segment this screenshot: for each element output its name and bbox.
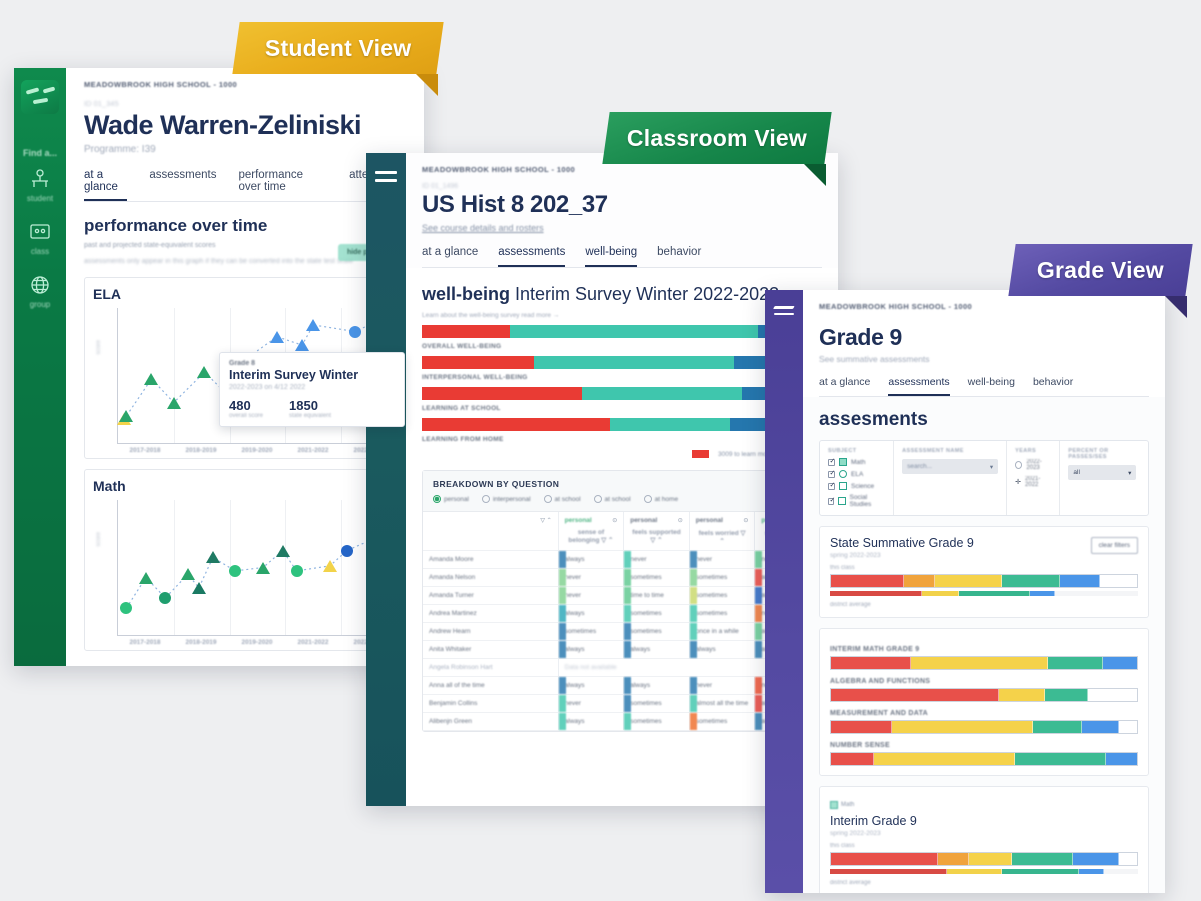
subject-label: Science (851, 483, 874, 490)
ribbon-classroom-view: Classroom View (606, 112, 828, 164)
tab-at-a-glance[interactable]: at a glance (422, 246, 478, 267)
tooltip-key-state: state equivalent (289, 413, 331, 419)
student-name-cell: Amanda Moore (423, 551, 558, 569)
x-tick: 2021-2022 (285, 447, 341, 454)
bar-segment (904, 575, 935, 587)
bar-segment (1119, 853, 1137, 865)
data-point[interactable] (144, 373, 158, 385)
radio-icon (1015, 461, 1022, 469)
filter-label-years: YEARS (1015, 448, 1051, 454)
response-cell: sometimes (558, 623, 624, 641)
bar-segment (892, 721, 1033, 733)
breakdown-radio[interactable]: at school (594, 495, 631, 503)
table-row[interactable]: Amanda Moorealwaysnevernevernever (423, 551, 821, 569)
subject-label: ELA (851, 471, 863, 478)
response-cell: always (624, 677, 690, 695)
filter-assessment-name: ASSESSMENT NAME search... ▾ (894, 441, 1007, 515)
page-subtitle: See summative assessments (819, 354, 1149, 364)
filter-label-percent: PERCENT OR PASSES/SES (1068, 448, 1140, 460)
response-cell: always (689, 641, 755, 659)
student-tabs: at a glance assessments performance over… (84, 169, 406, 202)
response-swatch (559, 677, 566, 694)
response-cell: sometimes (624, 569, 690, 587)
chart-tooltip: Grade 8 Interim Survey Winter 2022-2023 … (219, 352, 405, 427)
bar-segment (422, 387, 582, 400)
radio-label: interpersonal (493, 496, 531, 503)
response-cell: never (689, 551, 755, 569)
breakdown-radio[interactable]: interpersonal (482, 495, 531, 503)
x-tick: 2017-2018 (117, 447, 173, 454)
breadcrumb: MEADOWBROOK HIGH SCHOOL - 1000 (84, 80, 406, 89)
response-cell: always (558, 713, 624, 731)
assessment-filters: SUBJECT MathELAScienceSocial Studies ASS… (819, 440, 1149, 516)
response-cell: never (558, 569, 624, 587)
tab-assessments[interactable]: assessments (149, 169, 216, 201)
y-axis-label-ela: score (96, 340, 102, 355)
bar-segment (874, 753, 1015, 765)
bar-segment (1088, 689, 1137, 701)
response-swatch (690, 641, 697, 658)
breakdown-radio[interactable]: at home (644, 495, 679, 503)
grade-sidebar (765, 290, 803, 893)
wellbeing-bar (422, 356, 822, 369)
table-row[interactable]: Anna all of the timealwaysalwaysnevernev… (423, 677, 821, 695)
tab-at-a-glance[interactable]: at a glance (84, 169, 127, 201)
x-tick: 2019-2020 (229, 447, 285, 454)
page-title: Wade Warren-Zeliniski (84, 110, 406, 141)
sidebar-label-class: class (31, 247, 49, 256)
year-option-2[interactable]: ✛ 2021-2022 (1015, 476, 1051, 488)
radio-icon (644, 495, 652, 503)
sidebar-label-group: group (30, 300, 50, 309)
bar-segment (1073, 853, 1119, 865)
table-row[interactable]: Amanda Nelsonneversometimessometimesalwa… (423, 569, 821, 587)
subject-checkbox-row[interactable]: ELA (828, 470, 885, 478)
bar-segment (1055, 591, 1138, 596)
bar-segment (999, 689, 1045, 701)
bar-segment (510, 325, 758, 338)
radio-label: personal (444, 496, 469, 503)
assessment-search-input[interactable]: search... ▾ (902, 459, 998, 474)
bar-segment (1119, 721, 1137, 733)
response-swatch (755, 605, 762, 622)
table-header-cell[interactable]: personal⊙feels worried ▽ ⌃ (689, 512, 755, 551)
bar-segment (831, 689, 999, 701)
bar-segment (831, 753, 874, 765)
response-cell: always (558, 641, 624, 659)
table-row[interactable]: Benjamin Collinsneversometimesalmost all… (423, 695, 821, 713)
student-name-cell: Andrea Martinez (423, 605, 558, 623)
data-point[interactable] (119, 410, 133, 422)
table-header-row: ▽ ⌃personal⊙sense of belonging ▽ ⌃person… (423, 512, 821, 551)
response-swatch (559, 587, 566, 604)
data-point[interactable] (291, 565, 303, 577)
radio-icon (544, 495, 552, 503)
table-row[interactable]: Angela Robinson HartData not available (423, 659, 821, 677)
response-swatch (755, 587, 762, 604)
response-cell: never (689, 677, 755, 695)
bar-segment (534, 356, 734, 369)
subject-checkbox-row[interactable]: Social Studies (828, 494, 885, 508)
hamburger-menu-icon[interactable] (774, 306, 794, 893)
response-cell: sometimes (624, 605, 690, 623)
globe-icon (838, 497, 845, 505)
response-cell: sometimes (689, 713, 755, 731)
tooltip-title: Interim Survey Winter (229, 368, 395, 382)
series-label: this class (830, 565, 1138, 571)
bar-segment (1106, 753, 1137, 765)
bar-segment (831, 721, 892, 733)
chart-title-math: Math (93, 478, 397, 494)
response-swatch (624, 713, 631, 730)
math-icon (830, 801, 838, 809)
wellbeing-bars: OVERALL WELL-BEINGINTERPERSONAL WELL-BEI… (422, 325, 822, 443)
clear-filters-button[interactable]: clear filters (1091, 537, 1138, 554)
student-id: ID 01_345 (84, 99, 406, 108)
data-point[interactable] (256, 562, 270, 574)
bar-segment (1002, 869, 1079, 874)
proficiency-bar (830, 852, 1138, 866)
data-point[interactable] (306, 319, 320, 331)
filter-subject: SUBJECT MathELAScienceSocial Studies (820, 441, 894, 515)
response-swatch (624, 677, 631, 694)
bar-segment (422, 325, 510, 338)
tooltip-value-overall: 480 (229, 398, 263, 413)
data-point[interactable] (323, 560, 337, 572)
radio-icon (482, 495, 490, 503)
radio-label: at school (555, 496, 581, 503)
tooltip-date: 2022-2023 on 4/12 2022 (229, 384, 395, 391)
response-swatch (690, 695, 697, 712)
response-swatch (690, 623, 697, 640)
response-cell: never (558, 695, 624, 713)
response-swatch (559, 551, 566, 568)
data-point[interactable] (341, 545, 353, 557)
bar-segment (959, 591, 1030, 596)
bar-segment (1104, 869, 1138, 874)
bar-segment (938, 853, 969, 865)
checkbox-icon[interactable] (828, 498, 834, 505)
page-title: US Hist 8 202_37 (422, 191, 822, 219)
response-swatch (624, 551, 631, 568)
group-icon (27, 274, 53, 296)
grade-view-panel: MEADOWBROOK HIGH SCHOOL - 1000 Grade 9 S… (765, 290, 1165, 893)
subject-badge: Math (830, 801, 854, 809)
breakdown-radio[interactable]: personal (433, 495, 469, 503)
bar-segment (831, 575, 904, 587)
circle-icon (839, 470, 847, 478)
student-name-cell: Benjamin Collins (423, 695, 558, 713)
x-tick: 2017-2018 (117, 639, 173, 646)
ribbon-label-classroom: Classroom View (627, 125, 807, 152)
bar-segment (922, 591, 959, 596)
radio-icon (433, 495, 441, 503)
radio-icon (594, 495, 602, 503)
series-label-average: district average (830, 880, 1138, 886)
breadcrumb: MEADOWBROOK HIGH SCHOOL - 1000 (819, 302, 1149, 311)
student-name-cell: Anna all of the time (423, 677, 558, 695)
year-option-1[interactable]: 2022-2023 (1015, 459, 1051, 471)
find-label: Find a... (23, 148, 57, 158)
year-label: 2021-2022 (1025, 476, 1051, 488)
tab-performance-over-time[interactable]: performance over time (238, 169, 327, 201)
data-point[interactable] (139, 572, 153, 584)
sidebar-item-group[interactable]: group (27, 274, 53, 309)
search-placeholder: search... (907, 463, 932, 470)
response-cell: once in a while (689, 623, 755, 641)
response-swatch (559, 605, 566, 622)
x-tick: 2018-2019 (173, 639, 229, 646)
tab-at-a-glance[interactable]: at a glance (819, 376, 870, 396)
chart-math: Math score 2017-2018 2018-2019 2019-2020… (84, 469, 406, 651)
section-title: assesments (819, 409, 1149, 431)
filter-label-subject: SUBJECT (828, 448, 885, 454)
data-point[interactable] (229, 565, 241, 577)
subject-checkbox-row[interactable]: Math (828, 458, 885, 466)
breakdown-by-question-card: BREAKDOWN BY QUESTION personalinterperso… (422, 470, 822, 732)
sidebar-label-student: student (27, 194, 53, 203)
data-point[interactable] (295, 339, 309, 351)
response-cell: always (624, 641, 690, 659)
proficiency-bar (830, 752, 1138, 766)
percent-select[interactable]: all ▾ (1068, 465, 1136, 480)
wellbeing-bar (422, 387, 822, 400)
bar-segment (422, 418, 610, 431)
response-cell: always (558, 677, 624, 695)
response-cell: sometimes (689, 569, 755, 587)
ribbon-label-grade: Grade View (1037, 257, 1164, 284)
response-cell: sometimes (624, 713, 690, 731)
response-cell: always (558, 551, 624, 569)
table-header-student: ▽ ⌃ (423, 512, 558, 551)
response-swatch (624, 587, 631, 604)
bar-segment (1060, 575, 1100, 587)
response-swatch (624, 695, 631, 712)
proficiency-bar (830, 720, 1138, 734)
tooltip-key-overall: overall score (229, 413, 263, 419)
ribbon-label-student: Student View (265, 35, 411, 62)
data-point[interactable] (192, 582, 206, 594)
chevron-down-icon: ▾ (990, 463, 993, 471)
response-cell: sometimes (624, 695, 690, 713)
assessment-date: spring 2022-2023 (830, 830, 1138, 837)
assessment-card: MathInterim Grade 9spring 2022-2023this … (819, 786, 1149, 893)
breakdown-radio[interactable]: at school (544, 495, 581, 503)
student-name-cell: Amanda Nelson (423, 569, 558, 587)
ribbon-grade-view: Grade View (1012, 244, 1189, 296)
x-tick: 2018-2019 (173, 447, 229, 454)
series-label-average: district average (830, 602, 1138, 608)
data-point[interactable] (181, 568, 195, 580)
section-heading: well-being Interim Survey Winter 2022-20… (422, 284, 822, 305)
response-swatch (624, 623, 631, 640)
x-axis-ela: 2017-2018 2018-2019 2019-2020 2021-2022 … (117, 447, 397, 454)
tab-well-being[interactable]: well-being (585, 246, 637, 267)
plot-area-math: score (117, 500, 397, 636)
bar-segment (830, 869, 947, 874)
response-cell: time to time (624, 587, 690, 605)
response-cell: always (558, 605, 624, 623)
tab-behavior[interactable]: behavior (1033, 376, 1073, 396)
bar-segment (831, 853, 938, 865)
subscore-label: NUMBER SENSE (830, 742, 1138, 749)
bar-segment (831, 657, 911, 669)
response-swatch (755, 677, 762, 694)
response-swatch (755, 713, 762, 730)
data-point[interactable] (270, 331, 284, 343)
chart-ela: ELA score 2017-2018 2018-2019 2019-2020 … (84, 277, 406, 459)
bar-segment (1045, 689, 1088, 701)
response-swatch (690, 605, 697, 622)
bar-segment (1082, 721, 1119, 733)
subject-label: Social Studies (850, 494, 886, 508)
response-swatch (690, 587, 697, 604)
bar-segment (935, 575, 1002, 587)
response-swatch (690, 569, 697, 586)
x-axis-math: 2017-2018 2018-2019 2019-2020 2021-2022 … (117, 639, 397, 646)
table-header-cell[interactable]: personal⊙feels supported ▽ ⌃ (624, 512, 690, 551)
response-swatch (624, 641, 631, 658)
ribbon-student-view: Student View (236, 22, 440, 74)
course-details-link[interactable]: See course details and rosters (422, 223, 822, 233)
bar-segment (1048, 657, 1103, 669)
table-header-cell[interactable]: personal⊙sense of belonging ▽ ⌃ (558, 512, 624, 551)
y-axis-label-math: score (96, 532, 102, 547)
x-tick: 2019-2020 (229, 639, 285, 646)
bar-segment (1079, 869, 1104, 874)
response-cell: never (624, 551, 690, 569)
response-swatch (755, 641, 762, 658)
proficiency-bar (830, 688, 1138, 702)
checkbox-icon[interactable] (828, 459, 835, 466)
table-row[interactable]: Amanda Turnernevertime to timesometimesa… (423, 587, 821, 605)
filter-years: YEARS 2022-2023 ✛ 2021-2022 (1007, 441, 1060, 515)
breadcrumb: MEADOWBROOK HIGH SCHOOL - 1000 (422, 165, 822, 174)
bar-segment (947, 869, 1002, 874)
response-cell: sometimes (689, 605, 755, 623)
programme-label: Programme: I39 (84, 144, 406, 155)
tooltip-value-state: 1850 (289, 398, 331, 413)
student-name-cell: Amanda Turner (423, 587, 558, 605)
student-view-panel: Find a... student class (14, 68, 424, 666)
response-swatch (559, 623, 566, 640)
year-label: 2022-2023 (1026, 459, 1051, 471)
student-icon (27, 168, 53, 190)
bar-segment (1012, 853, 1073, 865)
section-label: well-being (422, 284, 510, 304)
filter-label-assessment: ASSESSMENT NAME (902, 448, 998, 454)
response-swatch (755, 623, 762, 640)
student-name-cell: Angela Robinson Hart (423, 659, 558, 677)
page-title: Grade 9 (819, 324, 1149, 351)
sidebar-item-student[interactable]: student (27, 168, 53, 203)
checkbox-icon[interactable] (828, 483, 835, 490)
response-swatch (559, 641, 566, 658)
response-swatch (559, 569, 566, 586)
plus-icon: ✛ (1015, 478, 1021, 486)
radio-label: at school (605, 496, 631, 503)
breakdown-table: ▽ ⌃personal⊙sense of belonging ▽ ⌃person… (423, 512, 821, 731)
sidebar-item-class[interactable]: class (27, 221, 53, 256)
response-swatch (559, 695, 566, 712)
data-point[interactable] (349, 326, 361, 338)
student-name-cell: Anita Whitaker (423, 641, 558, 659)
radio-label: at home (655, 496, 679, 503)
class-id: ID 01_1496 (422, 183, 822, 190)
bar-segment (422, 356, 534, 369)
wellbeing-legend: 3009 to learn more in-be (422, 450, 822, 458)
app-logo-icon (21, 80, 59, 114)
table-row[interactable]: Anita Whitakeralwaysalwaysalwaysalways (423, 641, 821, 659)
flask-icon (839, 482, 847, 490)
classroom-tabs: at a glance assessments well-being behav… (422, 246, 822, 268)
bar-segment (1033, 721, 1082, 733)
proficiency-bar (830, 656, 1138, 670)
response-swatch (624, 569, 631, 586)
response-swatch (624, 605, 631, 622)
data-point[interactable] (167, 397, 181, 409)
checkbox-icon[interactable] (828, 471, 835, 478)
assessment-title: Interim Grade 9 (830, 814, 1138, 828)
tab-assessments[interactable]: assessments (498, 246, 565, 267)
tab-behavior[interactable]: behavior (657, 246, 701, 267)
bar-segment (911, 657, 1049, 669)
assessment-cards: State Summative Grade 9spring 2022-2023t… (819, 526, 1149, 893)
bar-segment (969, 853, 1012, 865)
bar-segment (1103, 657, 1137, 669)
bar-segment (1030, 591, 1055, 596)
hamburger-menu-icon[interactable] (375, 171, 397, 806)
legend-swatch-red (692, 450, 709, 458)
assessment-title: INTERIM MATH GRADE 9 (830, 646, 1138, 653)
response-swatch (690, 677, 697, 694)
breakdown-filters: personalinterpersonalat schoolat schoola… (433, 495, 811, 503)
tooltip-grade: Grade 8 (229, 360, 395, 367)
screenshot-root: Find a... student class (0, 0, 1201, 901)
bar-segment (1015, 753, 1107, 765)
wellbeing-note: Learn about the well-being survey read m… (422, 312, 822, 319)
series-label: this class (830, 843, 1138, 849)
wellbeing-bar (422, 418, 822, 431)
tab-assessments[interactable]: assessments (888, 376, 949, 396)
wellbeing-bar (422, 325, 822, 338)
table-row[interactable]: Andrew Hearnsometimessometimesonce in a … (423, 623, 821, 641)
filter-percent: PERCENT OR PASSES/SES all ▾ (1060, 441, 1148, 515)
table-row[interactable]: Alibenjn Greenalwayssometimessometimesal… (423, 713, 821, 731)
wellbeing-bar-label: OVERALL WELL-BEING (422, 343, 822, 350)
subject-checkbox-row[interactable]: Science (828, 482, 885, 490)
data-point[interactable] (276, 545, 290, 557)
section-name: Interim Survey Winter 2022-2023 (515, 284, 779, 304)
tab-well-being[interactable]: well-being (968, 376, 1015, 396)
breakdown-title: BREAKDOWN BY QUESTION (433, 479, 811, 489)
response-swatch (755, 695, 762, 712)
class-icon (27, 221, 53, 243)
response-swatch (755, 551, 762, 568)
table-row[interactable]: Andrea Martinezalwayssometimessometimesn… (423, 605, 821, 623)
student-name-cell: Alibenjn Green (423, 713, 558, 731)
student-name-cell: Andrew Hearn (423, 623, 558, 641)
proficiency-bar (830, 574, 1138, 588)
data-point[interactable] (197, 366, 211, 378)
grade-tabs: at a glance assessments well-being behav… (819, 376, 1149, 397)
data-point[interactable] (206, 551, 220, 563)
square-icon (839, 458, 847, 466)
bar-segment (610, 418, 730, 431)
response-cell: never (558, 587, 624, 605)
chart-title-ela: ELA (93, 286, 397, 302)
subject-label: Math (851, 459, 865, 466)
